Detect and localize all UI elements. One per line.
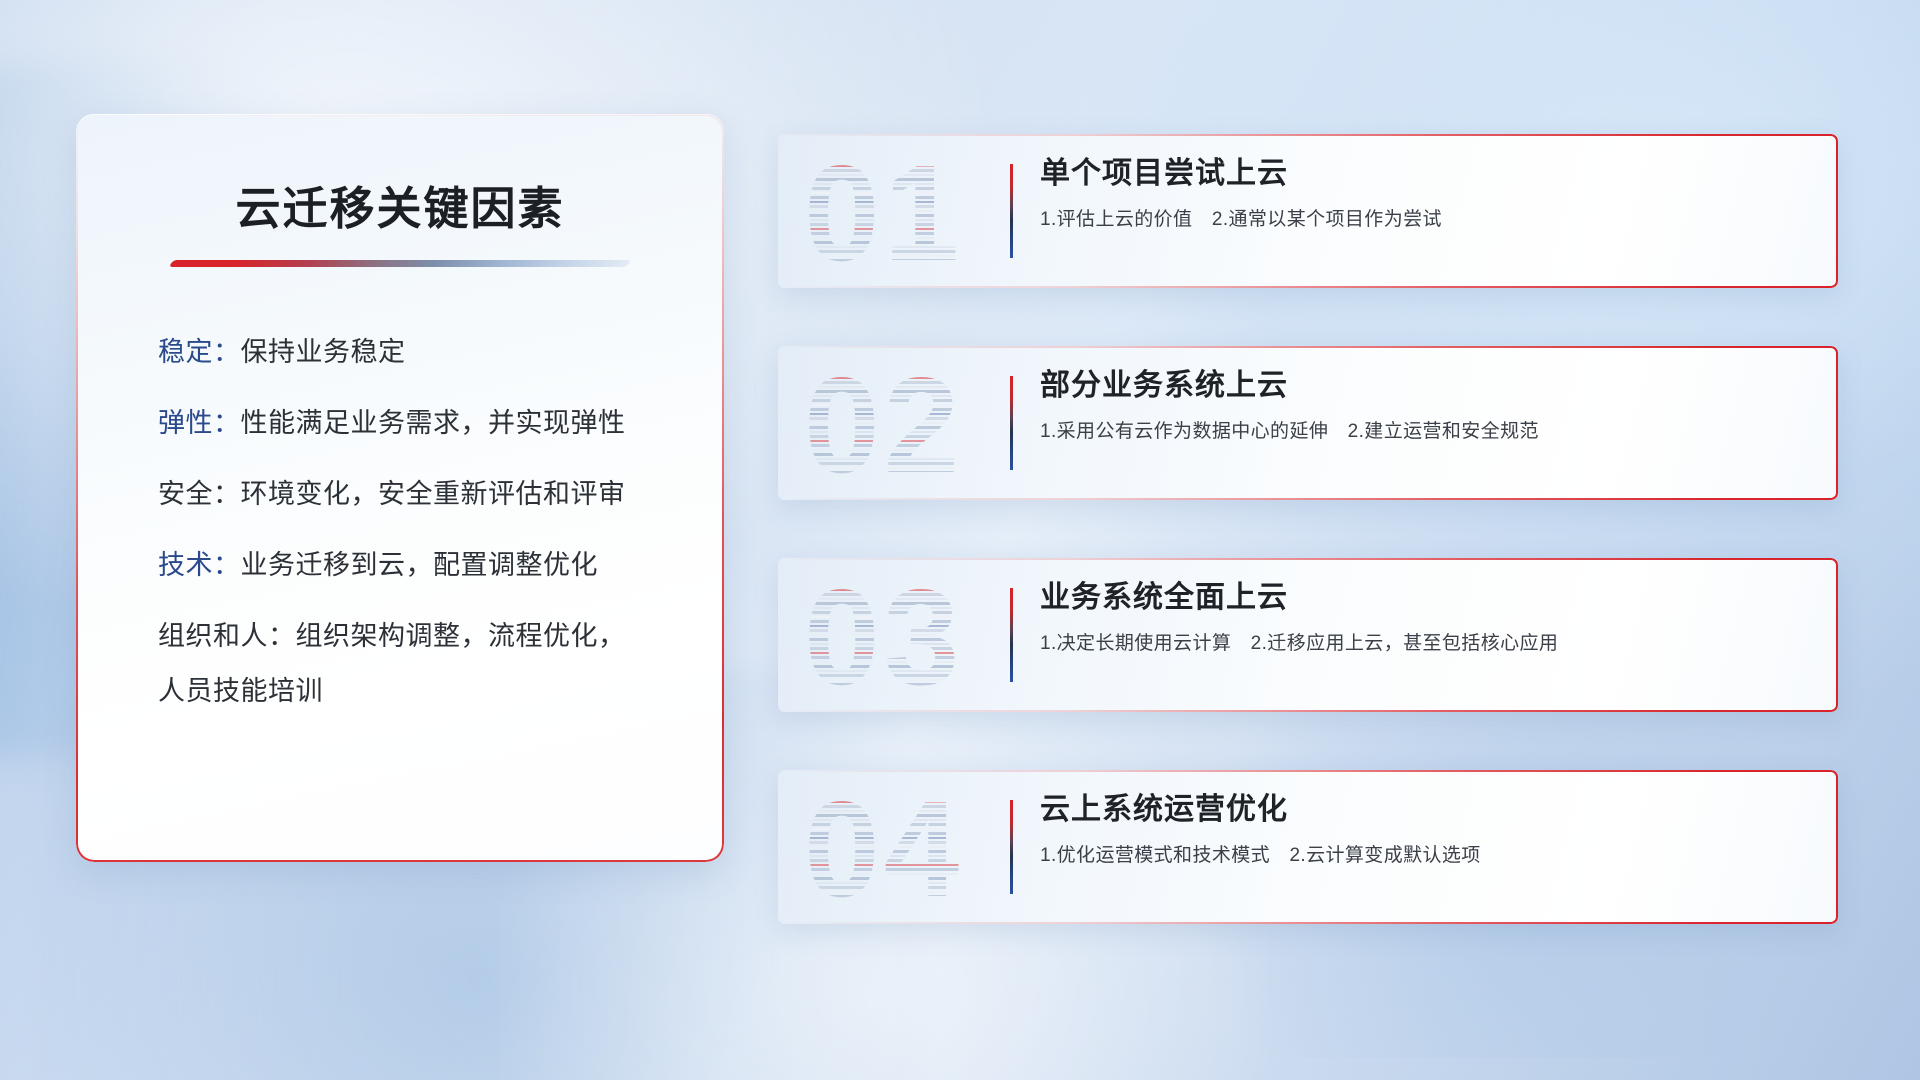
factor-text: 组织架构调整，流程优化， <box>296 621 626 651</box>
factor-item-security: 安全：环境变化，安全重新评估和评审 <box>158 475 668 514</box>
factor-label: 组织和人： <box>158 621 296 651</box>
factor-item-elasticity: 弹性：性能满足业务需求，并实现弹性 <box>158 404 668 443</box>
factor-label: 稳定： <box>158 337 241 367</box>
factor-item-stability: 稳定：保持业务稳定 <box>158 333 668 372</box>
card-text-block: 单个项目尝试上云 1.评估上云的价值 2.通常以某个项目作为尝试 <box>1040 156 1808 233</box>
card-subtitle: 1.优化运营模式和技术模式 2.云计算变成默认选项 <box>1040 844 1808 869</box>
factor-text: 业务迁移到云，配置调整优化 <box>241 550 599 580</box>
card-subtitle: 1.评估上云的价值 2.通常以某个项目作为尝试 <box>1040 208 1808 233</box>
factor-item-organization: 组织和人：组织架构调整，流程优化， <box>158 617 668 656</box>
card-text-block: 业务系统全面上云 1.决定长期使用云计算 2.迁移应用上云，甚至包括核心应用 <box>1040 580 1808 657</box>
card-subtitle: 1.决定长期使用云计算 2.迁移应用上云，甚至包括核心应用 <box>1040 632 1808 657</box>
factor-label: 弹性： <box>158 408 241 438</box>
stage-number-01-glitch-icon: 01 <box>804 142 1000 280</box>
card-right-red-edge <box>1836 558 1838 712</box>
card-title: 部分业务系统上云 <box>1040 368 1808 404</box>
factor-item-technology: 技术：业务迁移到云，配置调整优化 <box>158 546 668 585</box>
factor-text: 环境变化，安全重新评估和评审 <box>241 479 626 509</box>
migration-stage-card-list: 01 <box>778 134 1838 924</box>
stage-card-03[interactable]: 03 <box>778 558 1838 712</box>
glitch-number-svg: 02 <box>804 354 1000 492</box>
title-underline-rule <box>169 260 632 267</box>
card-title: 单个项目尝试上云 <box>1040 156 1808 192</box>
factor-text: 人员技能培训 <box>158 676 323 706</box>
panel-content: 云迁移关键因素 稳定：保持业务稳定 弹性：性能满足业务需求，并实现弹性 安全：环… <box>76 114 724 711</box>
factor-text: 保持业务稳定 <box>241 337 406 367</box>
page-title: 云迁移关键因素 <box>132 184 668 234</box>
card-subtitle: 1.采用公有云作为数据中心的延伸 2.建立运营和安全规范 <box>1040 420 1808 445</box>
card-title: 云上系统运营优化 <box>1040 792 1808 828</box>
stage-number-04-glitch-icon: 04 <box>804 778 1000 916</box>
card-text-block: 云上系统运营优化 1.优化运营模式和技术模式 2.云计算变成默认选项 <box>1040 792 1808 869</box>
stage-number-03-glitch-icon: 03 <box>804 566 1000 704</box>
card-right-red-edge <box>1836 770 1838 924</box>
glitch-number-svg: 01 <box>804 142 1000 280</box>
factor-list: 稳定：保持业务稳定 弹性：性能满足业务需求，并实现弹性 安全：环境变化，安全重新… <box>132 333 668 712</box>
card-right-red-edge <box>1836 134 1838 288</box>
card-right-red-edge <box>1836 346 1838 500</box>
factor-label: 安全： <box>158 479 241 509</box>
key-factors-panel: 云迁移关键因素 稳定：保持业务稳定 弹性：性能满足业务需求，并实现弹性 安全：环… <box>76 114 724 862</box>
card-accent-divider <box>1010 164 1013 258</box>
card-accent-divider <box>1010 376 1013 470</box>
card-text-block: 部分业务系统上云 1.采用公有云作为数据中心的延伸 2.建立运营和安全规范 <box>1040 368 1808 445</box>
factor-item-organization-continued: 人员技能培训 <box>158 672 668 711</box>
card-accent-divider <box>1010 588 1013 682</box>
factor-text: 性能满足业务需求，并实现弹性 <box>241 408 626 438</box>
stage-card-04[interactable]: 04 <box>778 770 1838 924</box>
card-accent-divider <box>1010 800 1013 894</box>
stage-card-02[interactable]: 02 <box>778 346 1838 500</box>
stage-number-02-glitch-icon: 02 <box>804 354 1000 492</box>
glitch-number-svg: 03 <box>804 566 1000 704</box>
factor-label: 技术： <box>158 550 241 580</box>
glitch-number-svg: 04 <box>804 778 1000 916</box>
card-title: 业务系统全面上云 <box>1040 580 1808 616</box>
stage-card-01[interactable]: 01 <box>778 134 1838 288</box>
